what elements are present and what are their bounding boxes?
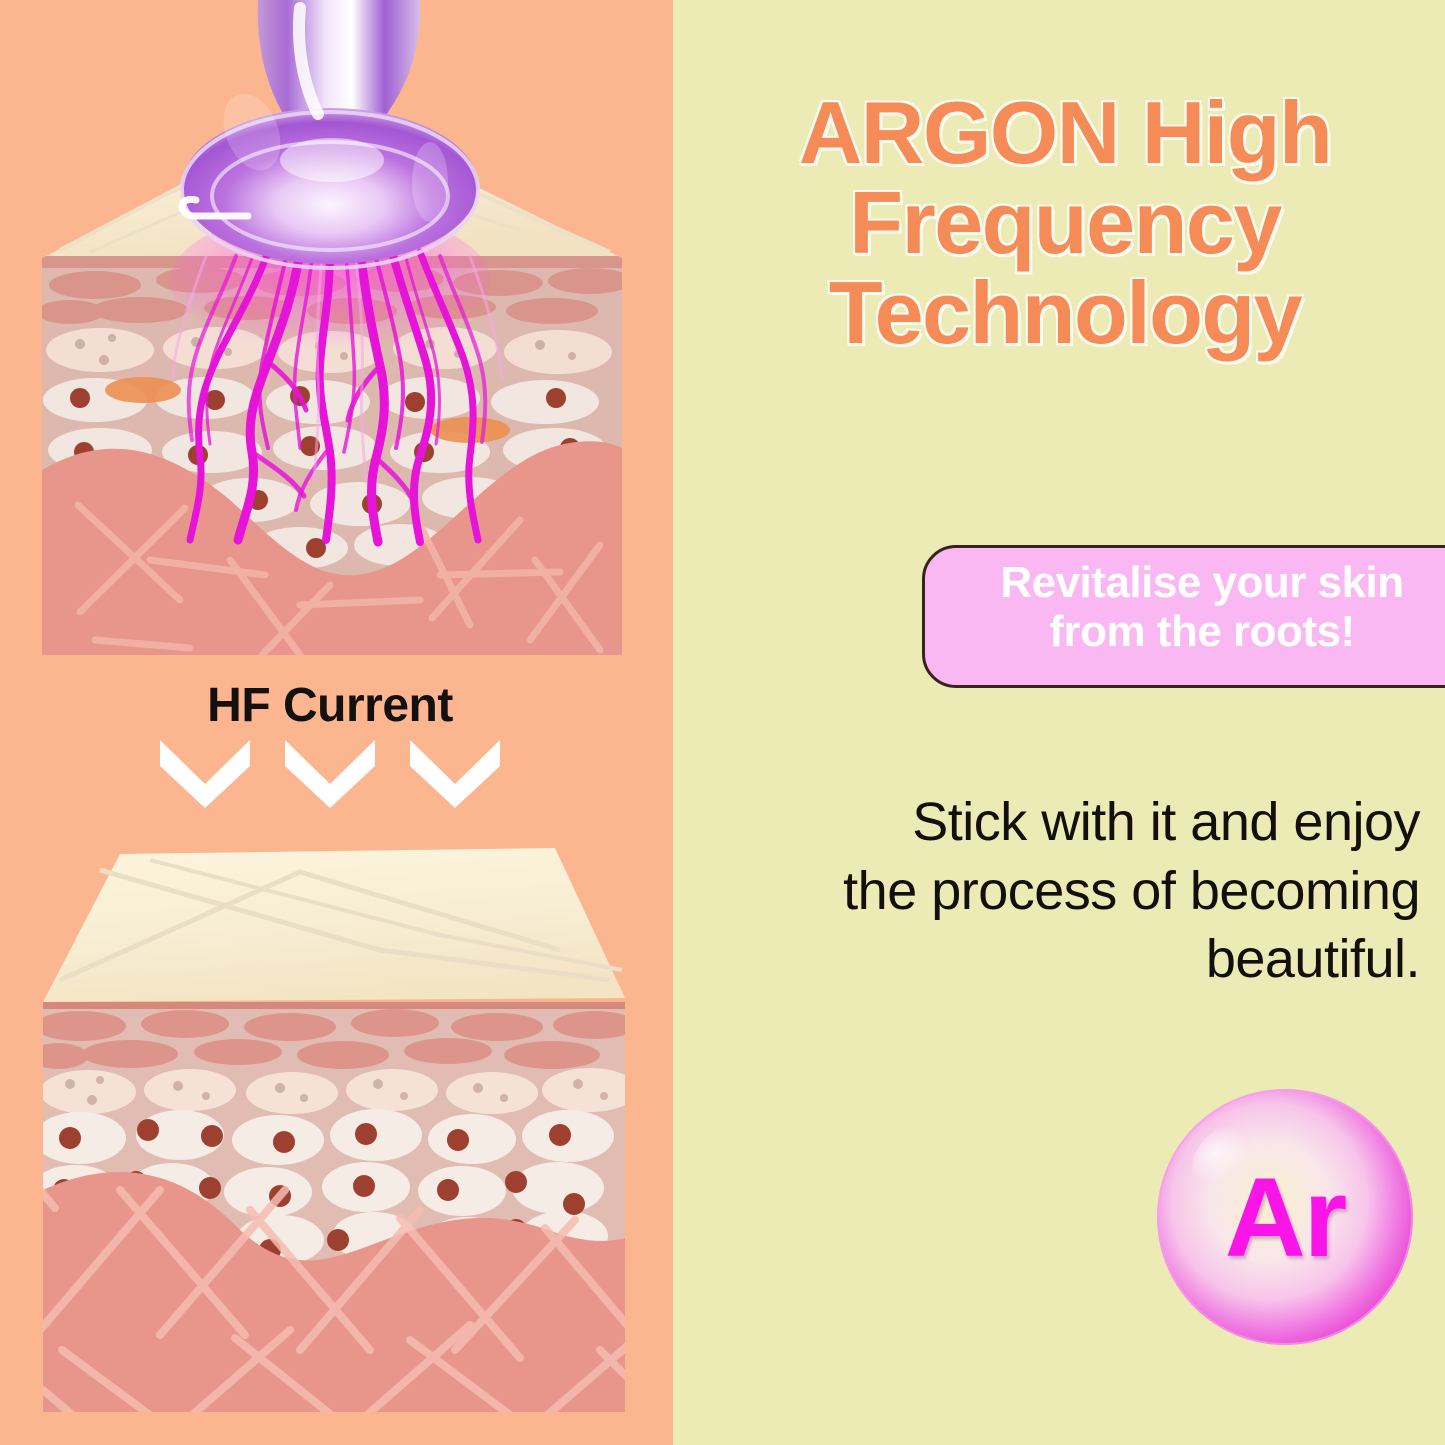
badge-line-2: from the roots! <box>949 607 1445 656</box>
tagline-badge: Revitalise your skin from the roots! <box>922 545 1445 688</box>
epidermis-top-face <box>43 848 625 1002</box>
body-line-3: beautiful. <box>1206 929 1420 989</box>
title-line-2: Frequency <box>700 178 1430 268</box>
poster-root: HF Current <box>0 0 1445 1445</box>
element-symbol: Ar <box>1155 1087 1415 1347</box>
title-line-1: ARGON High <box>700 88 1430 178</box>
chevron-down-icon <box>160 740 250 808</box>
badge-line-1: Revitalise your skin <box>949 558 1445 607</box>
skin-diagram-top-svg <box>0 0 673 670</box>
skin-layers-group <box>28 998 660 1430</box>
left-illustration-panel: HF Current <box>0 0 673 1445</box>
skin-diagram-healthy <box>0 830 673 1430</box>
hf-current-label: HF Current <box>0 678 660 733</box>
skin-layers-group <box>36 210 632 660</box>
chevron-down-icon <box>285 740 375 808</box>
chevron-down-icon <box>410 740 500 808</box>
body-line-2: the process of becoming <box>843 861 1420 921</box>
skin-diagram-bottom-svg <box>0 830 673 1430</box>
skin-diagram-with-electrode <box>0 0 673 670</box>
title-line-3: Technology <box>700 268 1430 358</box>
body-copy: Stick with it and enjoy the process of b… <box>760 788 1420 994</box>
body-line-1: Stick with it and enjoy <box>912 792 1420 852</box>
page-title: ARGON High Frequency Technology <box>700 88 1430 357</box>
hf-current-arrow-row <box>160 740 500 810</box>
hf-electrode-wand <box>182 0 478 268</box>
argon-element-bubble: Ar <box>1155 1087 1415 1347</box>
